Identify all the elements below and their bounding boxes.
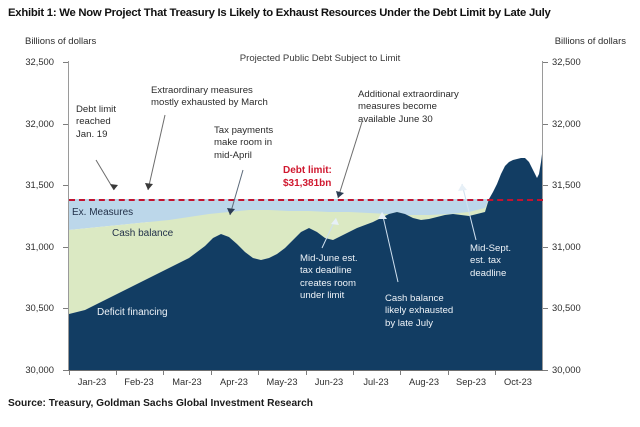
annotation-line: make room in xyxy=(214,137,272,148)
leader-line xyxy=(230,170,243,215)
annotation-line: mostly exhausted by March xyxy=(151,97,268,108)
annotation-line: est. tax xyxy=(470,255,501,266)
annotation-line: Jan. 19 xyxy=(76,129,107,140)
annotation-line: Additional extraordinary xyxy=(358,89,459,100)
arrow-head-icon xyxy=(110,184,118,190)
leader-line xyxy=(382,212,398,282)
chart-container: Exhibit 1: We Now Project That Treasury … xyxy=(0,0,640,427)
annotation-line: Mid-June est. xyxy=(300,253,358,264)
annotation-line: likely exhausted xyxy=(385,305,453,316)
annotation-line: reached xyxy=(76,116,111,127)
annotation-line: Extraordinary measures xyxy=(151,85,253,96)
annotation-line: creates room xyxy=(300,278,356,289)
annotation-line: by late July xyxy=(385,318,433,329)
leader-line xyxy=(148,115,165,190)
leader-line xyxy=(462,184,476,240)
annotation-line: tax deadline xyxy=(300,265,352,276)
annotation-mid-sept-tax-deadline: Mid-Sept. est. tax deadline xyxy=(470,243,511,280)
annotation-line: mid-April xyxy=(214,150,252,161)
annotation-line: Mid-Sept. xyxy=(470,243,511,254)
arrow-head-icon xyxy=(458,184,467,191)
annotation-cash-balance-exhausted: Cash balance likely exhausted by late Ju… xyxy=(385,293,453,330)
annotation-line: deadline xyxy=(470,268,506,279)
annotation-debt-limit-reached: Debt limit reached Jan. 19 xyxy=(76,104,116,141)
annotation-line: measures become xyxy=(358,101,437,112)
leader-line xyxy=(338,122,362,198)
annotation-tax-payments: Tax payments make room in mid-April xyxy=(214,125,273,162)
series-label-deficit-financing: Deficit financing xyxy=(97,307,168,319)
source-note: Source: Treasury, Goldman Sachs Global I… xyxy=(8,398,313,409)
annotation-line: Debt limit xyxy=(76,104,116,115)
annotation-line: Tax payments xyxy=(214,125,273,136)
arrow-head-icon xyxy=(145,183,153,190)
annotation-line: available June 30 xyxy=(358,114,433,125)
annotation-line: under limit xyxy=(300,290,344,301)
series-label-cash-balance: Cash balance xyxy=(112,228,173,240)
annotation-additional-measures: Additional extraordinary measures become… xyxy=(358,89,459,126)
annotation-mid-june-tax-deadline: Mid-June est. tax deadline creates room … xyxy=(300,253,358,303)
series-label-ex-measures: Ex. Measures xyxy=(72,207,133,219)
arrow-head-icon xyxy=(336,191,344,198)
arrow-head-icon xyxy=(227,208,235,215)
arrow-head-icon xyxy=(378,212,387,219)
annotation-extraordinary-measures: Extraordinary measures mostly exhausted … xyxy=(151,85,268,110)
annotation-line: Cash balance xyxy=(385,293,444,304)
